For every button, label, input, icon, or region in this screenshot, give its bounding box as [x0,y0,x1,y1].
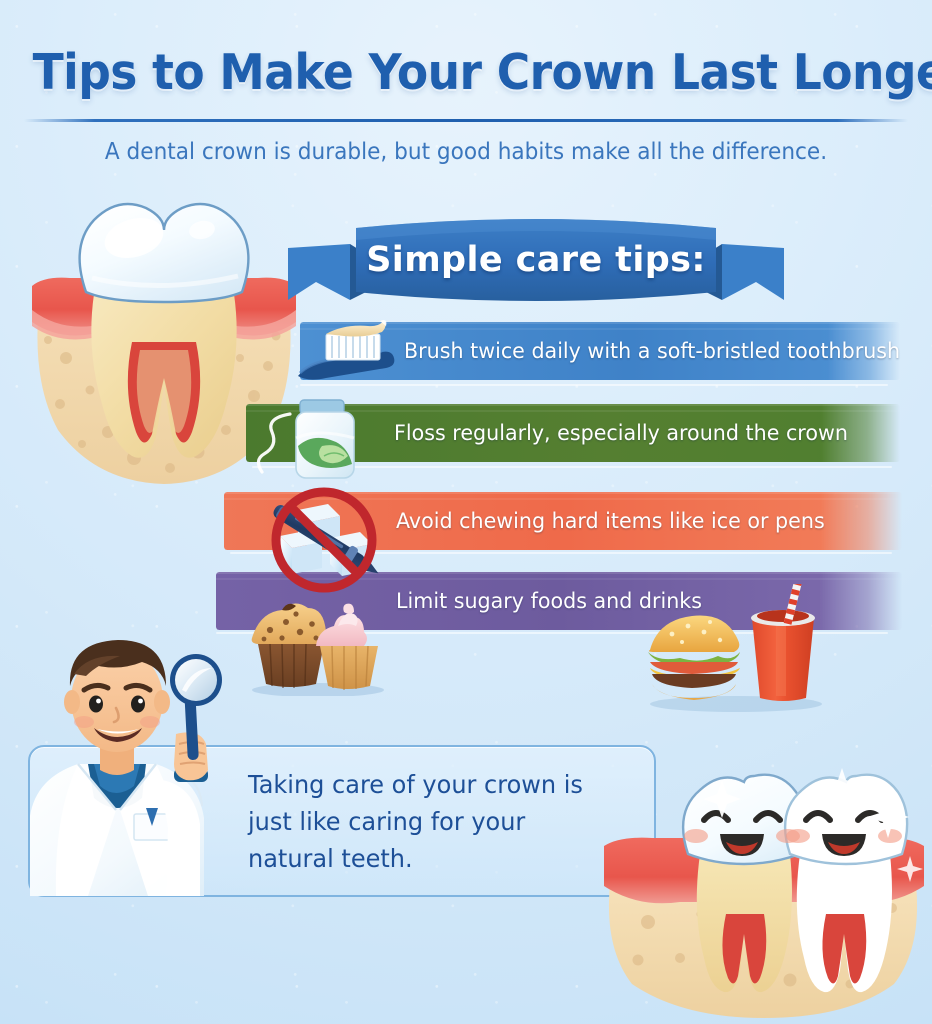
toothbrush-icon [296,316,400,386]
dentist-illustration [16,628,266,896]
ribbon-banner [286,216,786,314]
tip-text: Limit sugary foods and drinks [396,589,702,614]
title-divider [24,119,908,122]
floss-container-icon [252,398,378,484]
tip-text: Avoid chewing hard items like ice or pen… [396,509,825,534]
tip-text: Floss regularly, especially around the c… [394,421,848,446]
page-title: Tips to Make Your Crown Last Longer [33,44,900,101]
page-subtitle: A dental crown is durable, but good habi… [28,139,904,165]
happy-teeth-illustration [604,762,924,1020]
infographic-poster: Tips to Make Your Crown Last Longer A de… [0,0,932,1024]
no-ice-pen-icon [254,486,396,594]
closing-text: Taking care of your crown is just like c… [248,766,605,877]
tip-text: Brush twice daily with a soft-bristled t… [404,339,900,364]
